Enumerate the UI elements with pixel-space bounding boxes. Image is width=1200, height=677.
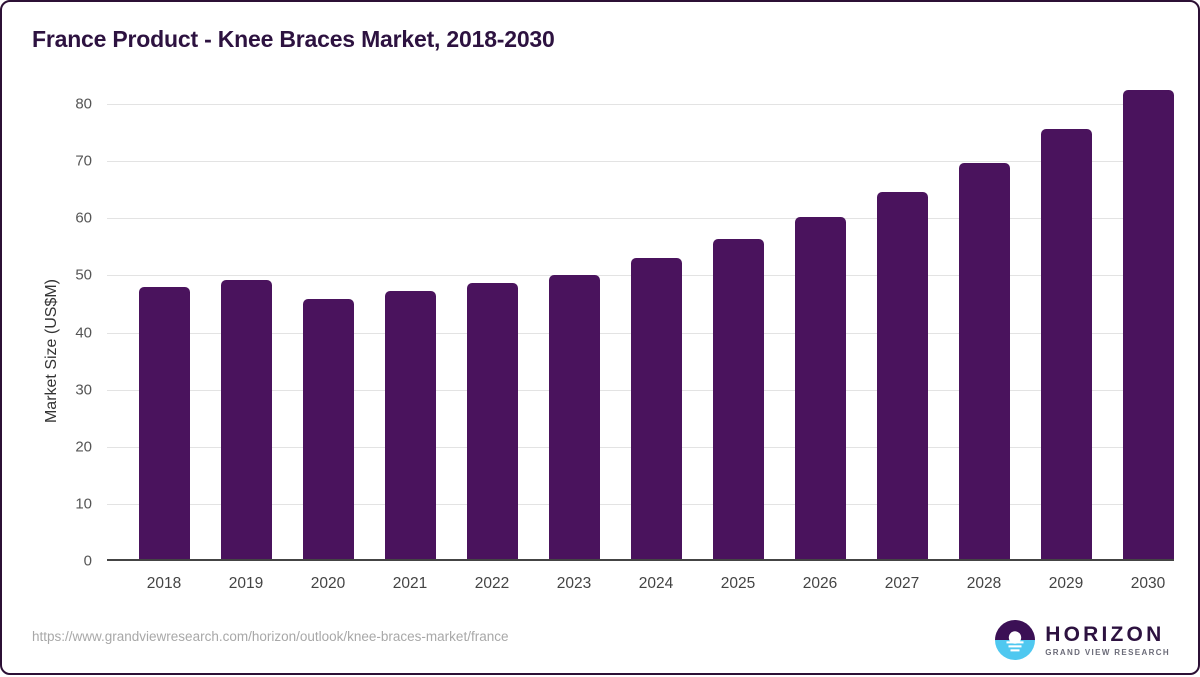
bar[interactable]: [959, 163, 1010, 559]
x-axis-tick-label: 2025: [697, 575, 779, 593]
x-axis-tick-label: 2027: [861, 575, 943, 593]
y-axis-tick-label: 0: [32, 553, 92, 570]
bar[interactable]: [303, 299, 354, 559]
horizon-logo: HORIZON GRAND VIEW RESEARCH: [994, 617, 1170, 663]
bar-slot: [1107, 102, 1189, 559]
bar[interactable]: [713, 239, 764, 559]
bar[interactable]: [795, 217, 846, 559]
bar-series: [107, 102, 1174, 559]
logo-text: HORIZON GRAND VIEW RESEARCH: [1045, 624, 1170, 657]
bar-slot: [779, 102, 861, 559]
x-axis-tick-label: 2029: [1025, 575, 1107, 593]
x-axis-tick-label: 2030: [1107, 575, 1189, 593]
y-axis-tick-label: 20: [32, 438, 92, 455]
bar[interactable]: [139, 287, 190, 559]
bar[interactable]: [221, 280, 272, 559]
chart-card: France Product - Knee Braces Market, 201…: [0, 0, 1200, 675]
bar-slot: [697, 102, 779, 559]
x-axis-ticks: 2018201920202021202220232024202520262027…: [107, 563, 1174, 593]
y-axis-tick-label: 60: [32, 210, 92, 227]
y-axis-tick-label: 40: [32, 324, 92, 341]
bar[interactable]: [385, 291, 436, 559]
bar[interactable]: [549, 275, 600, 559]
x-axis-tick-label: 2026: [779, 575, 861, 593]
bar-slot: [943, 102, 1025, 559]
x-axis-tick-label: 2024: [615, 575, 697, 593]
x-axis-tick-label: 2020: [287, 575, 369, 593]
x-axis-tick-label: 2018: [123, 575, 205, 593]
bar[interactable]: [1041, 129, 1092, 559]
y-axis-tick-label: 10: [32, 495, 92, 512]
bar-slot: [205, 102, 287, 559]
bar-slot: [123, 102, 205, 559]
horizon-sun-circle-icon: [994, 619, 1036, 661]
y-axis-tick-label: 50: [32, 267, 92, 284]
plot-area: [107, 102, 1174, 561]
bar-slot: [533, 102, 615, 559]
source-url[interactable]: https://www.grandviewresearch.com/horizo…: [32, 629, 508, 644]
x-axis-tick-label: 2023: [533, 575, 615, 593]
y-axis-tick-label: 70: [32, 153, 92, 170]
bar-slot: [615, 102, 697, 559]
logo-tagline: GRAND VIEW RESEARCH: [1045, 649, 1170, 657]
x-axis-tick-label: 2021: [369, 575, 451, 593]
bar-slot: [861, 102, 943, 559]
bar[interactable]: [631, 258, 682, 559]
x-axis-tick-label: 2028: [943, 575, 1025, 593]
x-axis-tick-label: 2022: [451, 575, 533, 593]
bar-slot: [369, 102, 451, 559]
bar-slot: [451, 102, 533, 559]
bar[interactable]: [877, 192, 928, 559]
logo-name: HORIZON: [1045, 624, 1170, 645]
bar[interactable]: [1123, 90, 1174, 559]
y-axis-tick-label: 80: [32, 96, 92, 113]
bar-slot: [287, 102, 369, 559]
bar-slot: [1025, 102, 1107, 559]
bar[interactable]: [467, 283, 518, 559]
chart-plot-wrapper: Market Size (US$M) 01020304050607080 201…: [2, 2, 1200, 677]
x-axis-line: [107, 559, 1174, 561]
y-axis-tick-label: 30: [32, 381, 92, 398]
x-axis-tick-label: 2019: [205, 575, 287, 593]
